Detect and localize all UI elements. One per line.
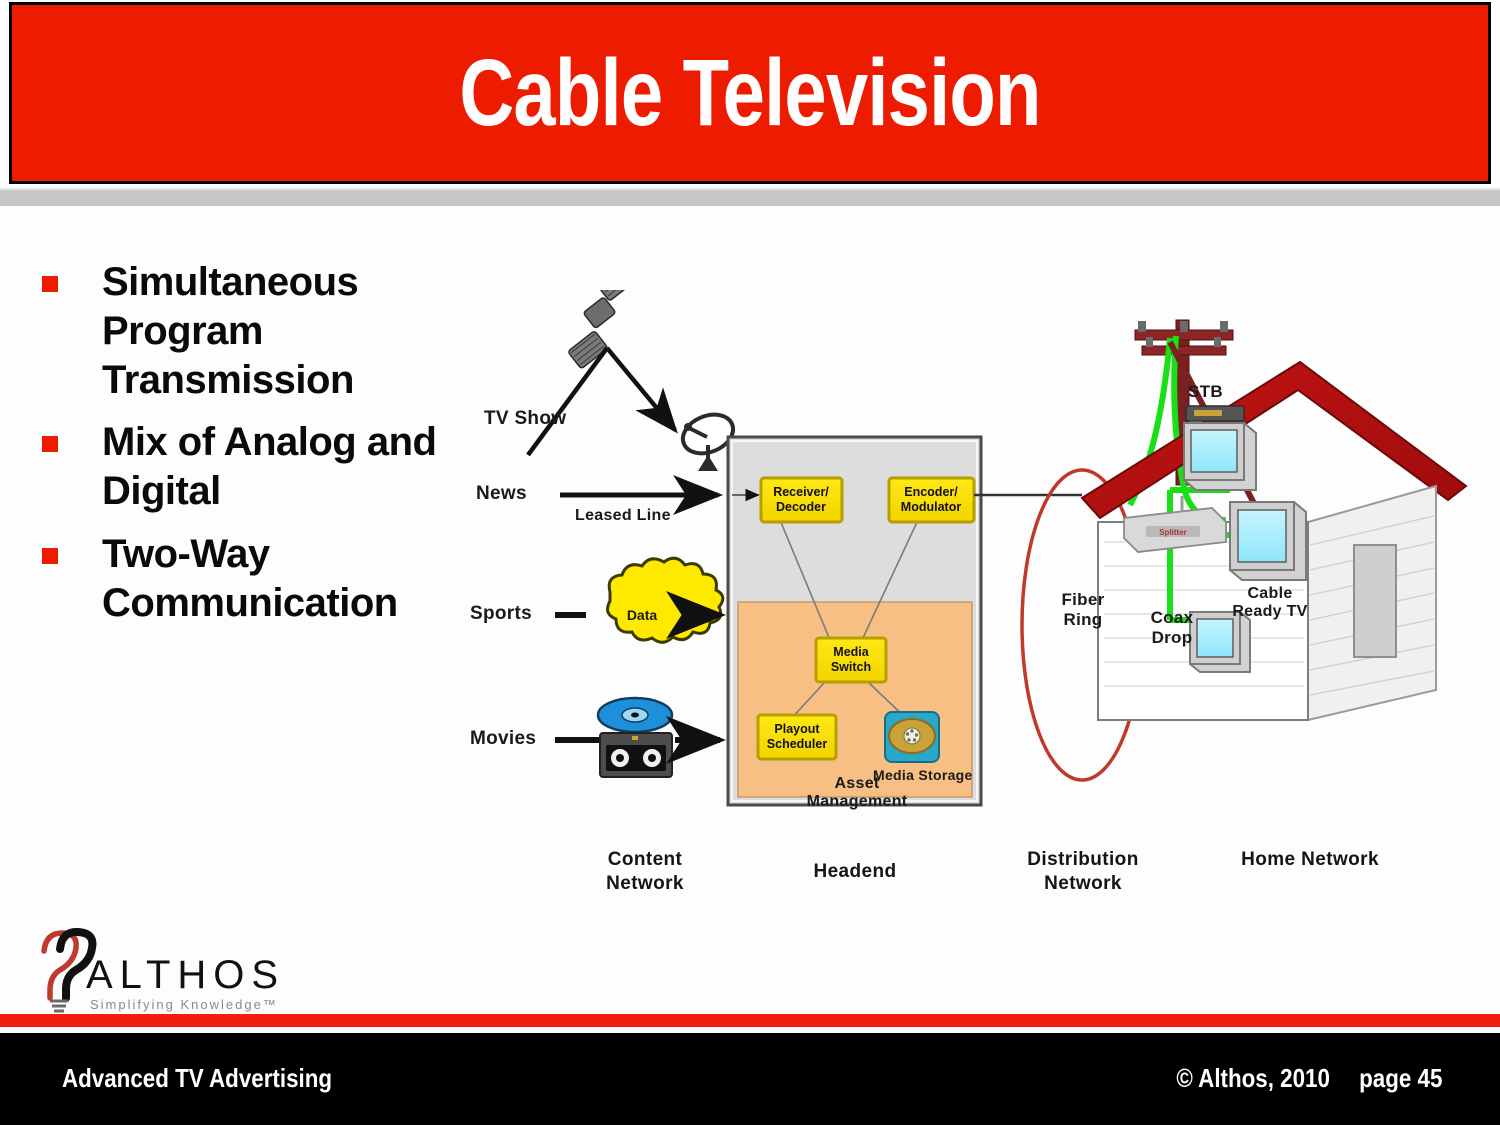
footer-copyright: © Althos, 2010 (1176, 1063, 1330, 1093)
page-title: Cable Television (160, 5, 1341, 181)
svg-text:Switch: Switch (831, 660, 871, 674)
media-storage-icon (885, 712, 939, 762)
althos-logo: ALTHOS Simplifying Knowledge™ (24, 925, 324, 1015)
bullet-square-icon (42, 548, 58, 564)
header-grey-band (0, 190, 1500, 206)
splitter-icon: Splitter (1124, 496, 1226, 552)
zone-caption-headend: Headend (785, 860, 925, 884)
bullet-text: Two-Way Communication (102, 530, 462, 628)
media-switch-node: Media Switch (816, 638, 886, 682)
svg-text:Data: Data (627, 607, 658, 623)
stb-label: STB (1188, 382, 1223, 402)
bullet-square-icon (42, 276, 58, 292)
cable-ready-tv-label: Cable Ready TV (1230, 585, 1310, 622)
data-cloud-icon: Data (608, 558, 723, 642)
receiver-decoder-node: Receiver/ Decoder (761, 478, 842, 522)
zone-caption-content-network: Content Network (575, 848, 715, 896)
source-label-tv-show: TV Show (484, 408, 566, 430)
cable-ready-tv-icon (1230, 502, 1306, 580)
source-label-movies: Movies (470, 728, 536, 750)
svg-text:Playout: Playout (774, 722, 820, 736)
list-item: Mix of Analog and Digital (42, 418, 462, 516)
title-banner: Cable Television (9, 2, 1491, 184)
encoder-modulator-node: Encoder/ Modulator (889, 478, 974, 522)
footer-book-title: Advanced TV Advertising (62, 1063, 332, 1094)
footer-red-rule (0, 1014, 1500, 1027)
fiber-ring-label: Fiber Ring (1052, 590, 1114, 629)
logo-tagline: Simplifying Knowledge™ (90, 997, 278, 1012)
vhs-tape-icon (600, 733, 672, 777)
asset-management-label: Asset Management (787, 775, 927, 812)
svg-text:Encoder/: Encoder/ (904, 485, 958, 499)
source-label-sports: Sports (470, 603, 532, 625)
logo-wordmark: ALTHOS (86, 953, 285, 998)
svg-text:Scheduler: Scheduler (767, 737, 828, 751)
list-item: Two-Way Communication (42, 530, 462, 628)
bullet-text: Simultaneous Program Transmission (102, 258, 462, 404)
svg-text:Receiver/: Receiver/ (773, 485, 829, 499)
footer-page-number: page 45 (1359, 1063, 1442, 1093)
zone-caption-home-network: Home Network (1240, 848, 1380, 872)
slide-canvas: Cable Television Simultaneous Program Tr… (0, 0, 1500, 1125)
svg-text:Splitter: Splitter (1159, 528, 1187, 537)
source-label-news: News (476, 483, 527, 505)
coax-drop-label: Coax Drop (1142, 608, 1202, 647)
svg-text:Modulator: Modulator (901, 500, 962, 514)
list-item: Simultaneous Program Transmission (42, 258, 462, 404)
svg-text:Media: Media (833, 645, 869, 659)
bullet-text: Mix of Analog and Digital (102, 418, 462, 516)
playout-scheduler-node: Playout Scheduler (758, 715, 836, 759)
cable-tv-architecture-diagram: Receiver/ Decoder Encoder/ Modulator Med… (470, 290, 1480, 910)
zone-caption-distribution-network: Distribution Network (998, 848, 1168, 896)
dvd-disc-icon (598, 698, 672, 732)
leased-line-label: Leased Line (575, 507, 671, 525)
bullet-list: Simultaneous Program Transmission Mix of… (42, 258, 462, 642)
bullet-square-icon (42, 436, 58, 452)
svg-text:Decoder: Decoder (776, 500, 826, 514)
footer-meta: © Althos, 2010page 45 (1176, 1063, 1442, 1094)
